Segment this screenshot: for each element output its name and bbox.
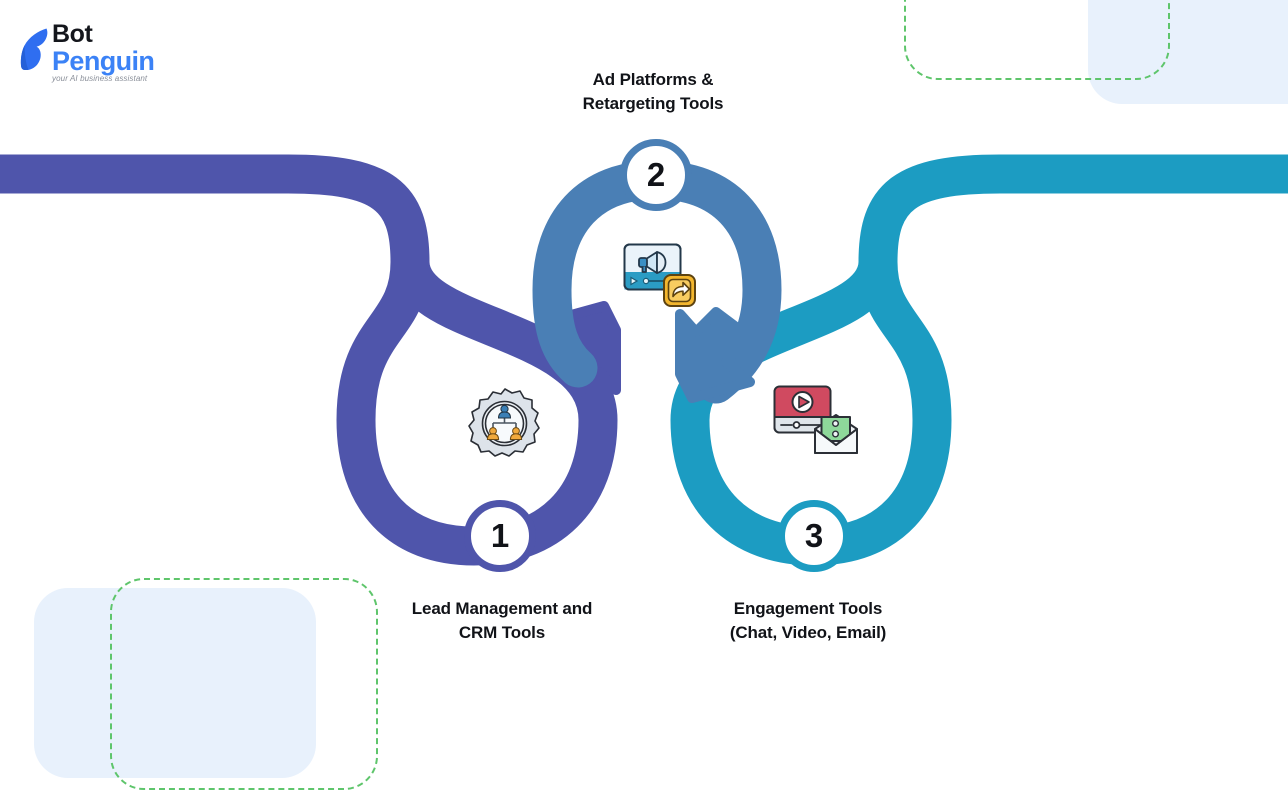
video-envelope-icon: [772, 383, 860, 459]
step-number-1[interactable]: 1: [464, 500, 536, 572]
step-label-2-line2: Retargeting Tools: [533, 92, 773, 116]
step-number-3[interactable]: 3: [778, 500, 850, 572]
step-label-3: Engagement Tools (Chat, Video, Email): [688, 597, 928, 645]
ribbon-left-purple: [0, 174, 616, 546]
step-label-2: Ad Platforms & Retargeting Tools: [533, 68, 773, 116]
ad-megaphone-share-icon: [622, 239, 698, 313]
step-label-1-line2: CRM Tools: [382, 621, 622, 645]
step-label-3-line2: (Chat, Video, Email): [688, 621, 928, 645]
gear-org-chart-icon: [466, 385, 544, 463]
step-label-1-line1: Lead Management and: [382, 597, 622, 621]
ribbon-right-teal: [690, 174, 1288, 546]
diagram-canvas: Bot Penguin your AI business assistant: [0, 0, 1288, 686]
step-label-2-line1: Ad Platforms &: [533, 68, 773, 92]
step-label-3-line1: Engagement Tools: [688, 597, 928, 621]
step-label-1: Lead Management and CRM Tools: [382, 597, 622, 645]
step-number-2[interactable]: 2: [620, 139, 692, 211]
